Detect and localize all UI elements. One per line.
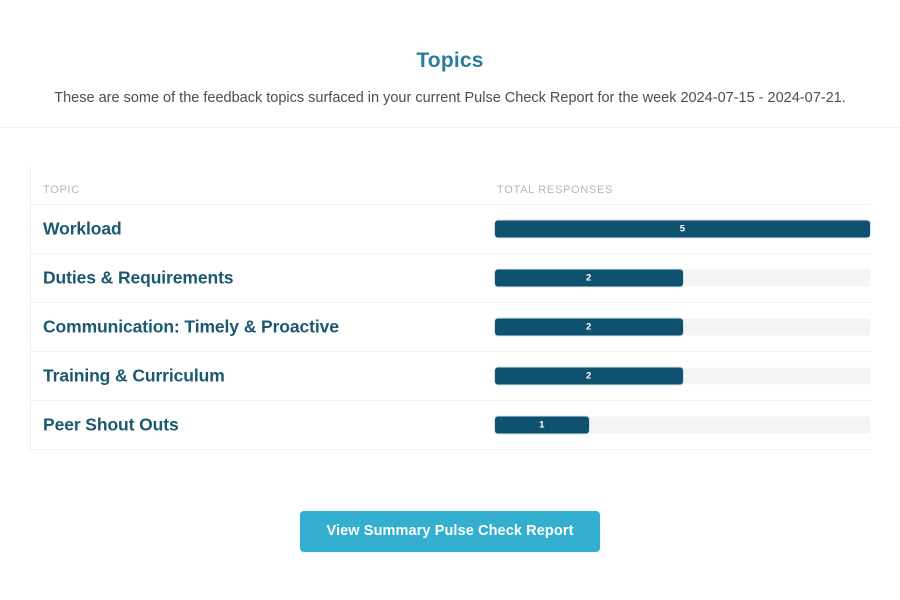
topic-name: Training & Curriculum — [43, 366, 225, 387]
bar-fill: 5 — [495, 221, 870, 238]
table-row[interactable]: Communication: Timely & Proactive 2 — [31, 302, 870, 351]
page-title: Topics — [0, 48, 900, 74]
table-row[interactable]: Peer Shout Outs 1 — [31, 400, 870, 450]
bar-value-label: 5 — [495, 221, 870, 238]
table-row[interactable]: Workload 5 — [31, 204, 870, 253]
responses-bar-cell: 2 — [495, 270, 870, 287]
bar-fill: 2 — [495, 319, 683, 336]
footer: View Summary Pulse Check Report — [0, 511, 900, 552]
column-header-topic: TOPIC — [43, 184, 80, 196]
topic-name: Workload — [43, 219, 122, 240]
table-header-row: TOPIC TOTAL RESPONSES — [31, 166, 870, 204]
table-row[interactable]: Duties & Requirements 2 — [31, 253, 870, 302]
page-subtitle: These are some of the feedback topics su… — [0, 88, 900, 108]
bar-fill: 2 — [495, 270, 683, 287]
topics-table: TOPIC TOTAL RESPONSES Workload 5 Duties … — [30, 166, 870, 450]
responses-bar-cell: 2 — [495, 319, 870, 336]
view-summary-pulse-check-report-button[interactable]: View Summary Pulse Check Report — [300, 511, 599, 552]
topic-name: Peer Shout Outs — [43, 415, 179, 436]
column-header-total-responses: TOTAL RESPONSES — [497, 184, 613, 196]
bar-fill: 1 — [495, 417, 589, 434]
page-header: Topics These are some of the feedback to… — [0, 0, 900, 128]
bar-value-label: 2 — [495, 270, 683, 287]
header-divider — [0, 127, 900, 128]
bar-value-label: 2 — [495, 319, 683, 336]
bar-value-label: 2 — [495, 368, 683, 385]
responses-bar-cell: 5 — [495, 221, 870, 238]
responses-bar-cell: 1 — [495, 417, 870, 434]
topic-name: Duties & Requirements — [43, 268, 233, 289]
bar-value-label: 1 — [495, 417, 589, 434]
table-row[interactable]: Training & Curriculum 2 — [31, 351, 870, 400]
responses-bar-cell: 2 — [495, 368, 870, 385]
topic-name: Communication: Timely & Proactive — [43, 317, 339, 338]
bar-fill: 2 — [495, 368, 683, 385]
